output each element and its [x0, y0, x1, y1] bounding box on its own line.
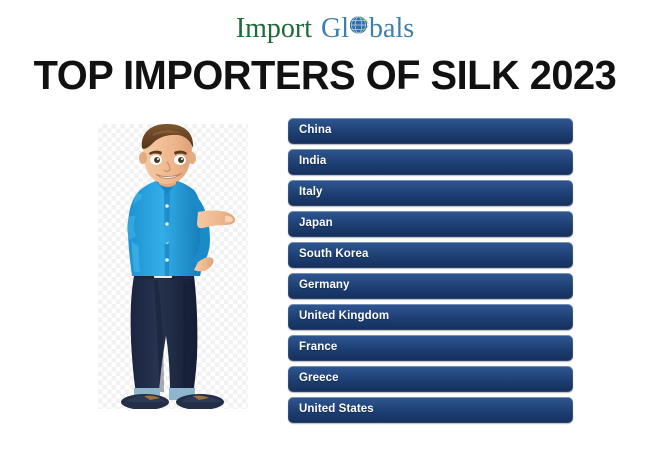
list-item[interactable]: France: [288, 335, 573, 361]
list-item[interactable]: Italy: [288, 180, 573, 206]
list-item-label: Greece: [299, 373, 339, 385]
list-item[interactable]: Greece: [288, 366, 573, 392]
logo-text-bals: bals: [369, 13, 414, 44]
list-item[interactable]: United States: [288, 397, 573, 423]
list-item-label: South Korea: [299, 249, 368, 261]
list-item-label: United States: [299, 404, 374, 416]
list-item-label: United Kingdom: [299, 311, 389, 323]
list-item-label: India: [299, 156, 326, 168]
infographic-canvas: ImportGl bals TOP IMPORTERS OF SILK 2023: [0, 0, 650, 450]
list-item-label: China: [299, 125, 331, 137]
importers-list: China India Italy Japan South Korea Germ…: [288, 118, 573, 423]
list-item[interactable]: Japan: [288, 211, 573, 237]
list-item[interactable]: India: [288, 149, 573, 175]
brand-logo: ImportGl bals: [0, 14, 650, 43]
globe-icon: [348, 14, 370, 36]
list-item-label: Germany: [299, 280, 350, 292]
list-item-label: Japan: [299, 218, 333, 230]
list-item-label: Italy: [299, 187, 323, 199]
man-pointing-right-graphic: [98, 124, 248, 409]
logo-text-import: Import: [236, 13, 312, 44]
list-item[interactable]: Germany: [288, 273, 573, 299]
list-item[interactable]: China: [288, 118, 573, 144]
list-item-label: France: [299, 342, 337, 354]
list-item[interactable]: South Korea: [288, 242, 573, 268]
logo-text-gl: Gl: [321, 13, 349, 44]
page-title: TOP IMPORTERS OF SILK 2023: [10, 52, 641, 99]
illustration-man-pointing: [98, 124, 248, 409]
list-item[interactable]: United Kingdom: [288, 304, 573, 330]
